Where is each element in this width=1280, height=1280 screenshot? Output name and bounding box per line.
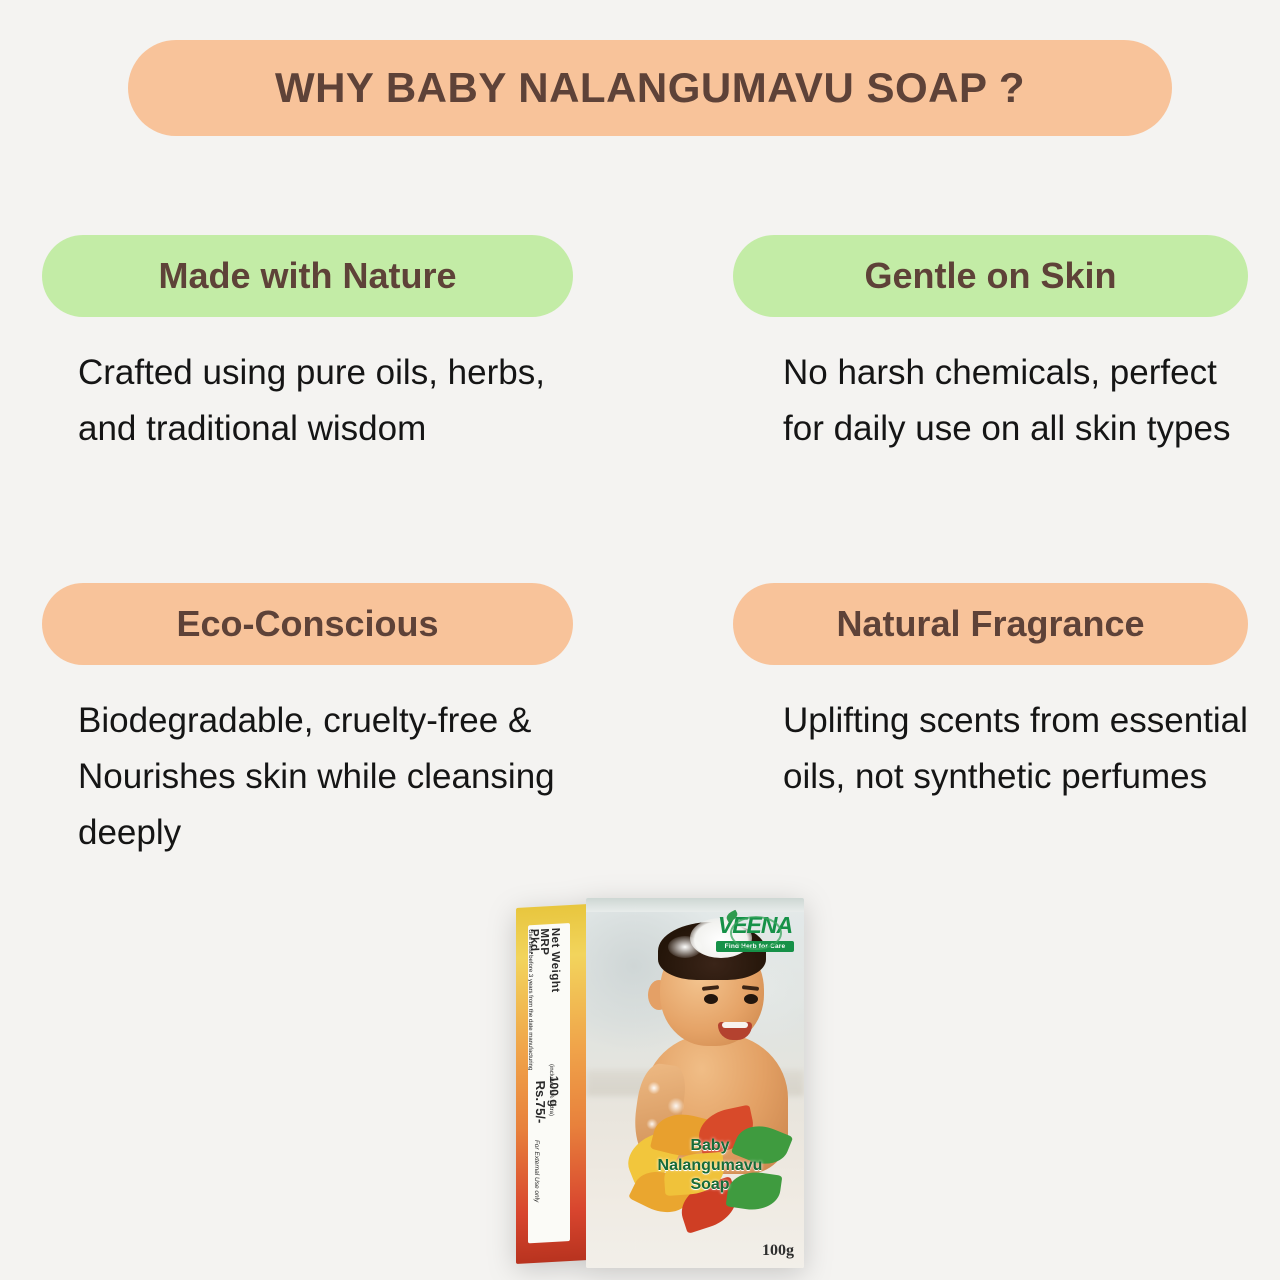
product-name: Baby Nalangumavu Soap [624,1136,796,1195]
carton-front-face: Baby Nalangumavu Soap 100g VEENA Find He… [586,898,804,1268]
side-label-net-weight: Net Weight [549,927,561,993]
weight-badge: 100g [762,1242,794,1260]
logo-ring-icon [730,916,782,950]
feature-pill-made-with-nature: Made with Nature [42,235,573,317]
carton-top-edge [586,898,804,912]
product-name-line3: Soap [624,1175,796,1195]
promo-page: WHY BABY NALANGUMAVU SOAP ? Made with Na… [0,0,1280,1280]
feature-description: Biodegradable, cruelty-free & Nourishes … [42,693,573,861]
feature-title: Gentle on Skin [864,255,1116,297]
side-value-usage-note: For External Use only [533,1140,540,1203]
feature-pill-natural-fragrance: Natural Fragrance [733,583,1248,665]
feature-pill-gentle-on-skin: Gentle on Skin [733,235,1248,317]
product-name-line2: Nalangumavu [624,1156,796,1176]
shampoo-foam-secondary [668,936,702,958]
feature-description: Uplifting scents from essential oils, no… [733,693,1248,805]
side-value-net-weight: 100 g [547,1075,561,1106]
product-carton: Net Weight MRP Pkd. Use Best before 3 ye… [516,898,804,1268]
page-title: WHY BABY NALANGUMAVU SOAP ? [275,64,1025,112]
product-image-area: Net Weight MRP Pkd. Use Best before 3 ye… [0,890,1280,1280]
feature-card-made-with-nature: Made with Nature Crafted using pure oils… [42,235,573,457]
product-name-line1: Baby [624,1136,796,1156]
feature-card-eco-conscious: Eco-Conscious Biodegradable, cruelty-fre… [42,583,573,861]
feature-description: Crafted using pure oils, herbs, and trad… [42,345,573,457]
baby-eyebrow-left [702,985,719,991]
side-panel-label: Net Weight MRP Pkd. Use Best before 3 ye… [528,923,570,1243]
carton-side-panel: Net Weight MRP Pkd. Use Best before 3 ye… [516,904,588,1264]
baby-mouth [718,1022,752,1040]
header-banner: WHY BABY NALANGUMAVU SOAP ? [128,40,1172,136]
feature-card-natural-fragrance: Natural Fragrance Uplifting scents from … [733,583,1248,805]
feature-title: Eco-Conscious [176,603,438,645]
side-label-best-before: Use Best before 3 years from the date ma… [528,929,533,1070]
brand-logo: VEENA Find Herb for Care [716,914,794,972]
feature-description: No harsh chemicals, perfect for daily us… [733,345,1248,457]
baby-eye-right [744,994,758,1004]
feature-title: Made with Nature [158,255,456,297]
feature-pill-eco-conscious: Eco-Conscious [42,583,573,665]
leaf-cluster-label: Baby Nalangumavu Soap [624,1110,796,1238]
baby-eye-left [704,994,718,1004]
baby-eyebrow-right [742,985,759,991]
feature-card-gentle-on-skin: Gentle on Skin No harsh chemicals, perfe… [733,235,1248,457]
side-value-mrp: Rs.75/- [533,1080,548,1123]
feature-title: Natural Fragrance [836,603,1144,645]
